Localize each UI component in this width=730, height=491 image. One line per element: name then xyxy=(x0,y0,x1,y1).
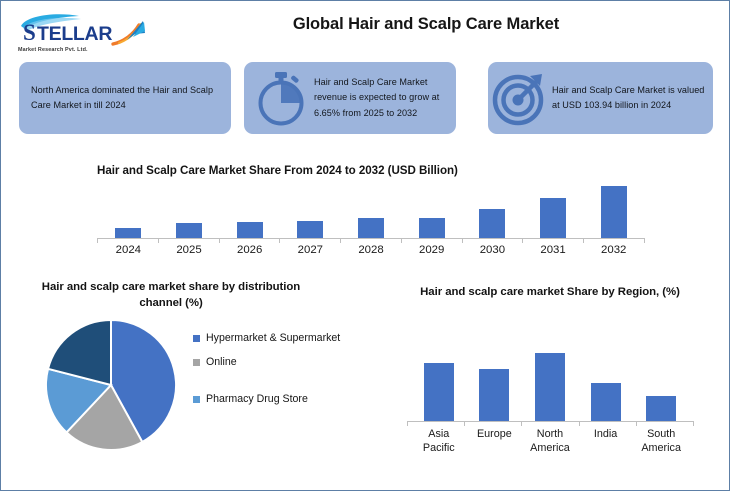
x-tick-label: 2031 xyxy=(523,244,584,256)
legend-label: Pharmacy Drug Store xyxy=(206,392,308,407)
chart-title: Hair and scalp care market share by dist… xyxy=(25,279,317,311)
info-card-growth-rate: Hair and Scalp Care Market revenue is ex… xyxy=(244,62,456,134)
bar xyxy=(535,353,565,421)
x-tick-label: 2027 xyxy=(280,244,341,256)
legend-item: Hypermarket & Supermarket xyxy=(193,331,358,346)
x-tick-label: Asia Pacific xyxy=(411,427,467,455)
bar xyxy=(479,369,509,421)
target-icon xyxy=(492,70,548,126)
bar-column xyxy=(401,186,462,238)
bar xyxy=(646,396,676,421)
legend-swatch xyxy=(193,359,200,366)
x-tick-label: Europe xyxy=(467,427,523,455)
x-axis-ticks xyxy=(407,421,693,426)
svg-text:TELLAR: TELLAR xyxy=(37,23,112,45)
svg-text:S: S xyxy=(23,20,36,45)
bar-column xyxy=(522,336,578,421)
bar-column xyxy=(633,336,689,421)
logo-tagline: Market Research Pvt. Ltd. xyxy=(18,47,88,53)
chart-title: Hair and Scalp Care Market Share From 20… xyxy=(97,164,645,177)
bar-column xyxy=(219,186,280,238)
legend-label: Online xyxy=(206,355,237,370)
x-tick-label: South America xyxy=(633,427,689,455)
legend-item: Pharmacy Drug Store xyxy=(193,392,358,407)
info-card-north-america: North America dominated the Hair and Sca… xyxy=(19,62,231,134)
x-tick-label: 2032 xyxy=(583,244,644,256)
chart-plot-area xyxy=(98,186,644,238)
legend-item: Online xyxy=(193,355,358,370)
bar xyxy=(591,383,621,421)
pie-legend: Hypermarket & Supermarket Online Pharmac… xyxy=(193,331,358,416)
distribution-channel-pie-chart: Hair and scalp care market share by dist… xyxy=(25,279,355,479)
legend-gap xyxy=(193,379,358,392)
bar xyxy=(424,363,454,421)
x-tick-label: 2025 xyxy=(159,244,220,256)
stellar-logo: S TELLAR Market Research Pvt. Ltd. xyxy=(15,13,155,59)
bar-column xyxy=(523,186,584,238)
bar xyxy=(115,228,141,238)
bar-column xyxy=(280,186,341,238)
x-tick-label: 2028 xyxy=(341,244,402,256)
chart-plot-area xyxy=(411,336,689,421)
bar xyxy=(237,222,263,238)
pie-plot-area xyxy=(45,319,177,451)
bar-column xyxy=(98,186,159,238)
page-title: Global Hair and Scalp Care Market xyxy=(181,15,671,34)
x-tick-label: India xyxy=(578,427,634,455)
bar xyxy=(176,223,202,238)
bar-column xyxy=(411,336,467,421)
info-card-text: Hair and Scalp Care Market revenue is ex… xyxy=(314,75,450,121)
bar xyxy=(358,218,384,238)
legend-label: Hypermarket & Supermarket xyxy=(206,331,340,346)
stopwatch-icon xyxy=(254,70,308,126)
x-axis-labels: Asia Pacific Europe North America India … xyxy=(411,427,689,455)
region-share-bar-chart: Hair and scalp care market Share by Regi… xyxy=(397,284,703,479)
bar-column xyxy=(462,186,523,238)
bar-column xyxy=(578,336,634,421)
infographic-canvas: S TELLAR Market Research Pvt. Ltd. Globa… xyxy=(0,0,730,491)
x-tick-label: 2026 xyxy=(219,244,280,256)
x-tick-label: 2024 xyxy=(98,244,159,256)
info-card-text: North America dominated the Hair and Sca… xyxy=(31,83,231,114)
legend-swatch xyxy=(193,396,200,403)
x-axis-labels: 2024 2025 2026 2027 2028 2029 2030 2031 … xyxy=(98,244,644,256)
bar xyxy=(601,186,627,238)
info-card-market-value: Hair and Scalp Care Market is valued at … xyxy=(488,62,713,134)
info-card-text: Hair and Scalp Care Market is valued at … xyxy=(552,83,707,114)
bar-column xyxy=(583,186,644,238)
bar-column xyxy=(467,336,523,421)
x-tick-label: North America xyxy=(522,427,578,455)
bar xyxy=(419,218,445,238)
x-tick-label: 2030 xyxy=(462,244,523,256)
logo-mark: S TELLAR xyxy=(15,13,155,47)
yearly-market-bar-chart: Hair and Scalp Care Market Share From 20… xyxy=(97,164,645,264)
bar-column xyxy=(341,186,402,238)
chart-title: Hair and scalp care market Share by Regi… xyxy=(397,284,703,301)
pie-svg xyxy=(45,319,177,451)
bar xyxy=(540,198,566,238)
bar xyxy=(297,221,323,238)
x-tick-label: 2029 xyxy=(401,244,462,256)
x-axis-ticks xyxy=(97,238,644,243)
bar xyxy=(479,209,505,238)
bar-column xyxy=(159,186,220,238)
legend-swatch xyxy=(193,335,200,342)
